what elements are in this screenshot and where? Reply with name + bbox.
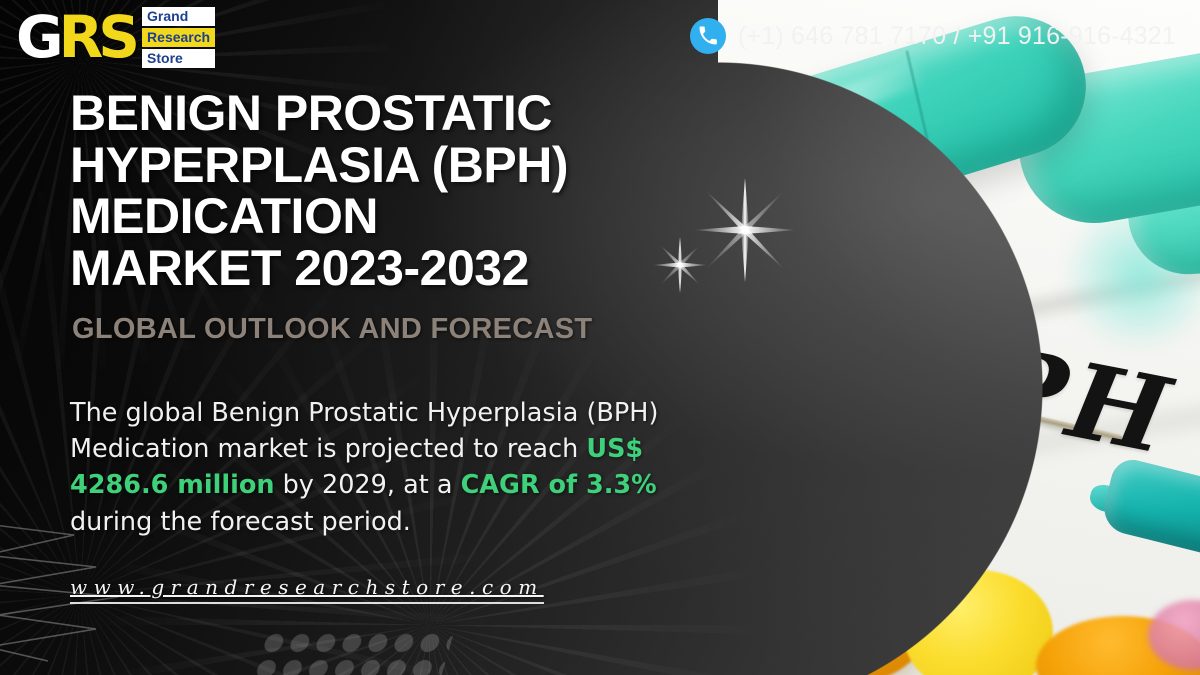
capsule-seam — [905, 50, 938, 179]
logo-letter-g: G — [16, 10, 59, 65]
logo-word-grand: Grand — [142, 7, 215, 26]
summary-paragraph: The global Benign Prostatic Hyperplasia … — [70, 395, 670, 540]
brand-logo[interactable]: G RS Grand Research Store — [14, 7, 215, 68]
title-line-1: BENIGN PROSTATIC — [70, 88, 680, 140]
summary-part-1: The global Benign Prostatic Hyperplasia … — [70, 398, 658, 464]
dot-grid-decoration — [251, 630, 454, 675]
logo-word-research: Research — [142, 28, 215, 47]
title-line-3: MEDICATION — [70, 191, 680, 243]
website-url[interactable]: www.grandresearchstore.com — [70, 575, 544, 604]
logo-mark: G RS — [14, 10, 137, 65]
page-title: BENIGN PROSTATIC HYPERPLASIA (BPH) MEDIC… — [70, 88, 680, 294]
phone-number-text: (+1) 646 781 7170 / +91 916-916-4321 — [738, 22, 1176, 51]
phone-icon — [690, 18, 726, 54]
logo-letters-rs: RS — [59, 10, 135, 65]
page-subtitle: GLOBAL OUTLOOK AND FORECAST — [72, 313, 692, 346]
logo-wordmark: Grand Research Store — [142, 7, 215, 68]
title-line-2: HYPERPLASIA (BPH) — [70, 140, 680, 192]
summary-part-2: by 2029, at a — [275, 470, 461, 500]
summary-part-3: during the forecast period. — [70, 507, 411, 537]
logo-word-store: Store — [142, 49, 215, 68]
product-photo-image: BPH — [718, 0, 1200, 675]
contact-phone[interactable]: (+1) 646 781 7170 / +91 916-916-4321 — [690, 18, 1176, 54]
title-line-4: MARKET 2023-2032 — [70, 243, 680, 295]
product-photo-panel: BPH — [718, 0, 1200, 675]
summary-highlight-cagr: CAGR of 3.3% — [461, 470, 657, 500]
marketing-banner: BPH G RS — [0, 0, 1200, 675]
